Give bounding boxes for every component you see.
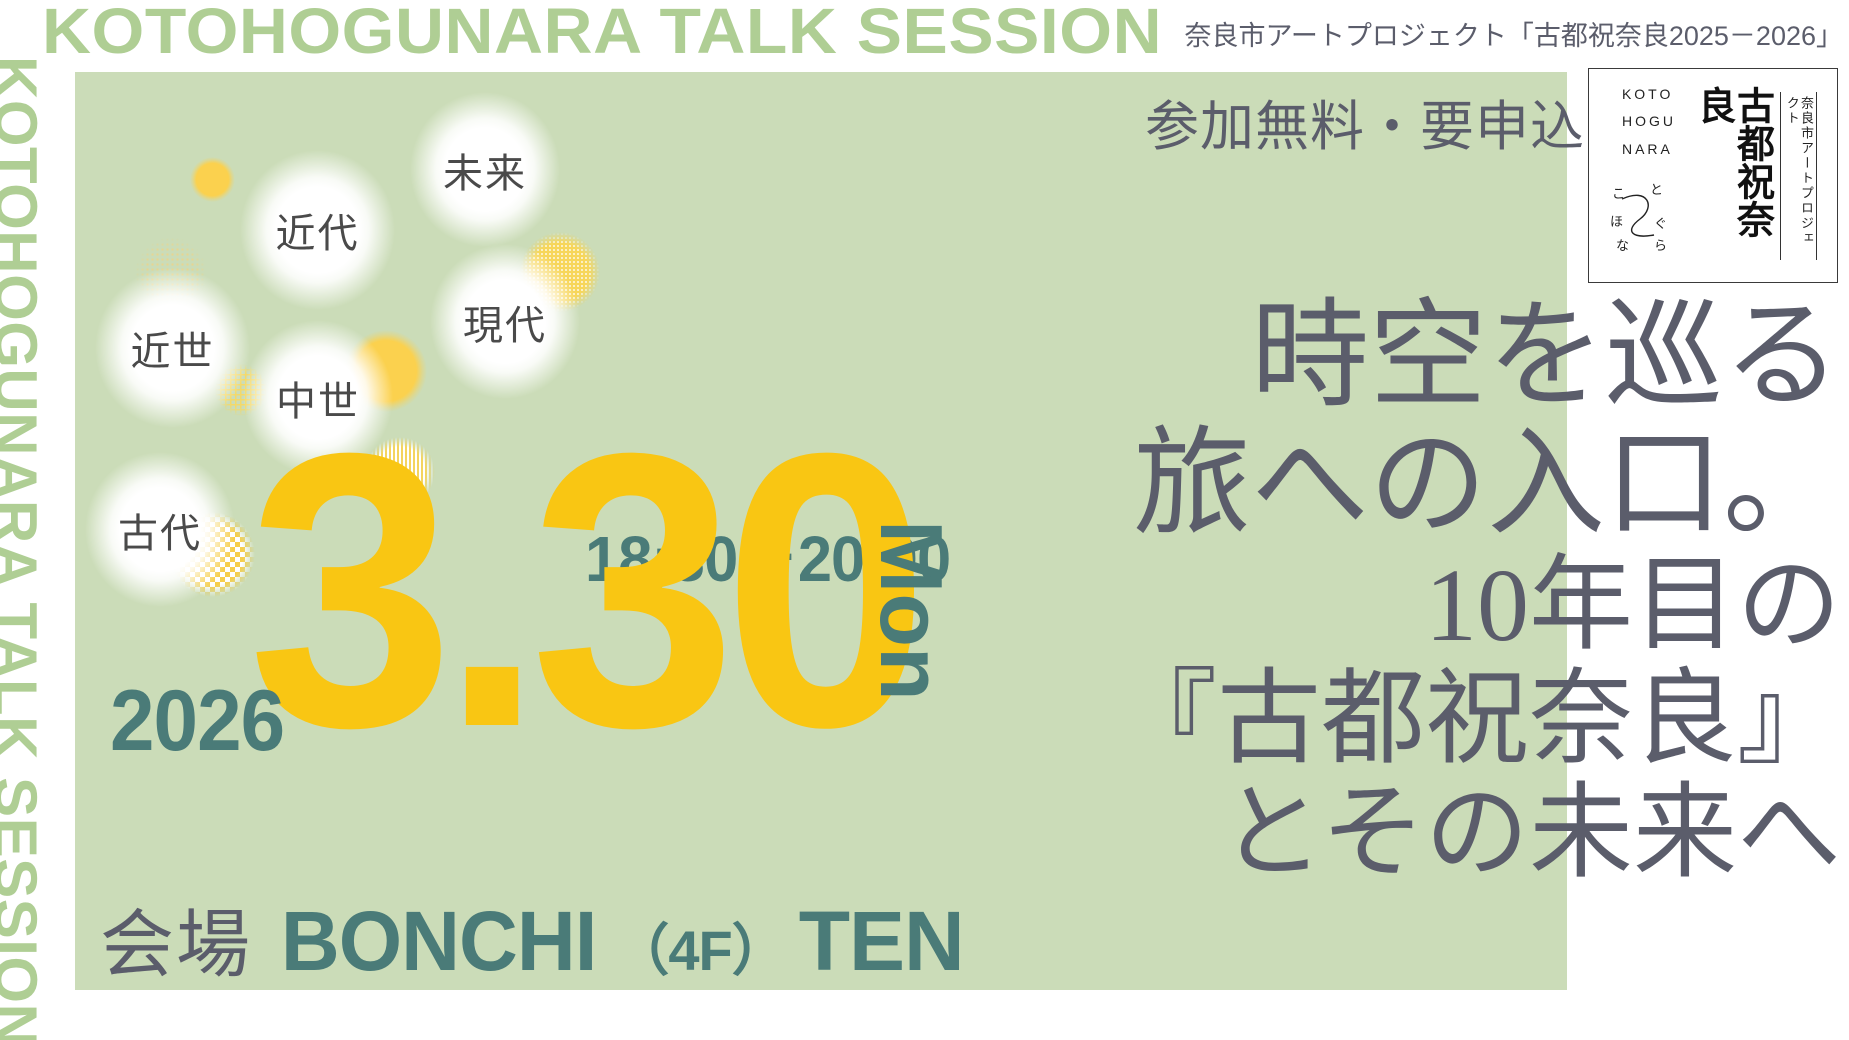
kana-ko: こ	[1612, 183, 1625, 202]
event-weekday: Mon	[860, 520, 962, 701]
venue-row: 会場 BONCHI （4F） TEN	[100, 885, 964, 992]
headline-line-2: 旅への入口。	[1113, 426, 1841, 544]
logo-vertical-caption-box: 奈良市アートプロジェクト	[1780, 92, 1817, 260]
kana-ra: ら	[1654, 235, 1667, 254]
poster-canvas: KOTOHOGUNARA TALK SESSION KOTOHOGUNARA T…	[0, 0, 1849, 1040]
logo-kanji: 古都祝奈良	[1693, 86, 1771, 266]
logo-romaji: KOTO HOGU NARA	[1622, 81, 1676, 163]
event-year: 2026	[110, 672, 284, 771]
venue-floor: （4F）	[613, 906, 786, 987]
project-label: 奈良市アートプロジェクト「古都祝奈良2025－2026」	[1184, 14, 1843, 53]
era-label: 近世	[131, 319, 215, 377]
headline-line-3: 10年目の	[1113, 554, 1841, 658]
logo-kana-swirl: こ と ほ ぐ な ら	[1610, 177, 1688, 253]
logo-vertical-caption: 奈良市アートプロジェクト	[1784, 96, 1813, 256]
kana-na: な	[1616, 235, 1629, 254]
logo-romaji-line: HOGU	[1622, 108, 1676, 135]
logo-romaji-line: KOTO	[1622, 81, 1676, 108]
era-label: 現代	[463, 293, 547, 351]
kotohogunara-logo: KOTO HOGU NARA こ と ほ ぐ な ら 古都祝奈良 奈良市アートプ…	[1588, 68, 1838, 283]
era-bubble-kodai: 古代	[85, 452, 235, 607]
event-date: 3.30	[248, 395, 916, 785]
era-bubble-kindai: 近代	[240, 150, 395, 310]
era-label: 未来	[443, 141, 527, 199]
venue-room: TEN	[799, 893, 964, 990]
solid-small-dot	[190, 157, 235, 202]
kana-to: と	[1650, 179, 1663, 198]
headline-line-1: 時空を巡る	[1113, 298, 1841, 416]
poster-top-title: KOTOHOGUNARA TALK SESSION	[42, 0, 1162, 68]
era-label: 近代	[276, 201, 360, 259]
logo-romaji-line: NARA	[1622, 136, 1676, 163]
era-bubble-mirai: 未来	[410, 92, 560, 247]
free-admission-label: 参加無料・要申込	[1145, 82, 1585, 161]
poster-side-title: KOTOHOGUNARA TALK SESSION	[0, 56, 50, 956]
headline-line-4: 『古都祝奈良』	[1113, 668, 1841, 772]
kana-ho: ほ	[1610, 211, 1623, 230]
era-bubble-kinsei: 近世	[95, 268, 250, 428]
main-headline: 時空を巡る 旅への入口。 10年目の 『古都祝奈良』 とその未来へ	[1113, 298, 1841, 896]
headline-line-5: とその未来へ	[1113, 782, 1841, 886]
era-label: 古代	[118, 501, 202, 559]
venue-label: 会場	[100, 885, 252, 992]
logo-left-column: KOTO HOGU NARA こ と ほ ぐ な ら	[1609, 69, 1689, 282]
venue-name: BONCHI	[281, 893, 597, 990]
kana-gu: ぐ	[1654, 213, 1667, 232]
